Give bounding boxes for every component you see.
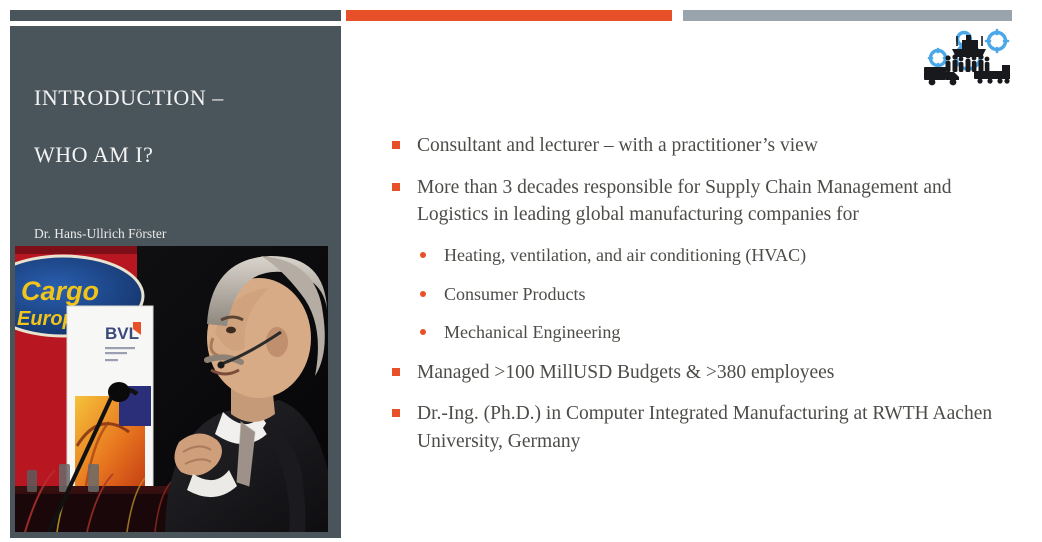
list-item-text: Consumer Products	[444, 282, 586, 308]
list-item-text: Dr.-Ing. (Ph.D.) in Computer Integrated …	[417, 400, 1002, 455]
title-line-2: WHO AM I?	[34, 143, 324, 167]
svg-text:Cargo: Cargo	[21, 276, 99, 306]
dot-bullet-icon	[420, 329, 426, 335]
list-item: More than 3 decades responsible for Supp…	[392, 174, 1002, 229]
list-item-text: Mechanical Engineering	[444, 320, 620, 346]
list-item-text: Heating, ventilation, and air conditioni…	[444, 243, 806, 269]
dot-bullet-icon	[420, 291, 426, 297]
square-bullet-icon	[392, 368, 400, 376]
list-item: Managed >100 MillUSD Budgets & >380 empl…	[392, 359, 1002, 387]
list-item-text: Managed >100 MillUSD Budgets & >380 empl…	[417, 359, 834, 387]
logistics-logo-graphic	[916, 27, 1014, 89]
square-bullet-icon	[392, 141, 400, 149]
list-item-text: Consultant and lecturer – with a practit…	[417, 132, 818, 160]
square-bullet-icon	[392, 409, 400, 417]
list-item: Consumer Products	[392, 282, 1002, 308]
top-bar-accent	[346, 10, 672, 21]
page-title: INTRODUCTION – WHO AM I?	[34, 86, 324, 167]
list-item: Mechanical Engineering	[392, 320, 1002, 346]
square-bullet-icon	[392, 183, 400, 191]
list-item: Heating, ventilation, and air conditioni…	[392, 243, 1002, 269]
top-bar-dark	[10, 10, 341, 21]
top-bar-gray	[683, 10, 1012, 21]
presenter-name: Dr. Hans-Ullrich Förster	[34, 226, 324, 242]
list-item-text: More than 3 decades responsible for Supp…	[417, 174, 1002, 229]
bullet-list: Consultant and lecturer – with a practit…	[392, 132, 1002, 470]
speaker-photo: Cargo Europe BVL	[15, 246, 328, 532]
list-item: Consultant and lecturer – with a practit…	[392, 132, 1002, 160]
list-item: Dr.-Ing. (Ph.D.) in Computer Integrated …	[392, 400, 1002, 455]
title-line-1: INTRODUCTION –	[34, 86, 324, 110]
dot-bullet-icon	[420, 252, 426, 258]
speaker-photo-graphic: Cargo Europe BVL	[15, 246, 328, 532]
supply-chain-logo	[916, 27, 1014, 89]
